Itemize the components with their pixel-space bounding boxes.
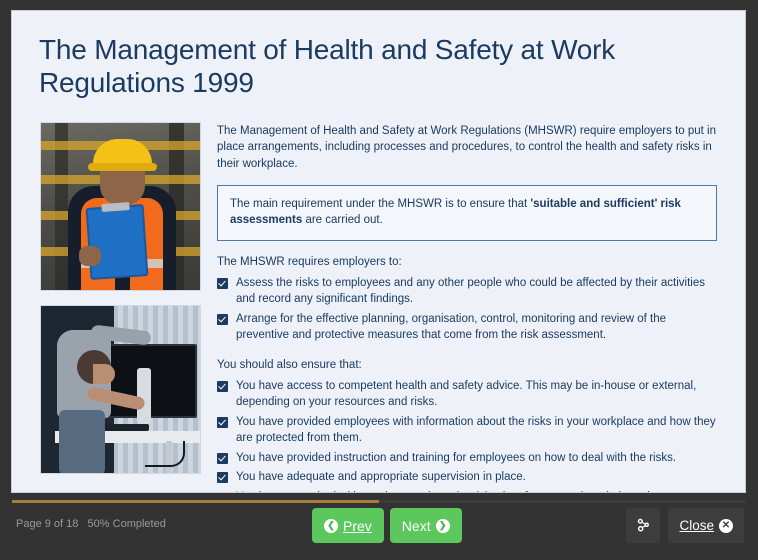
key-requirement-callout: The main requirement under the MHSWR is …	[217, 185, 717, 241]
list-item: You have access to competent health and …	[217, 379, 717, 411]
section2-lead: You should also ensure that:	[217, 359, 717, 371]
page-status-text: Page 9 of 18 50% Completed	[16, 518, 166, 530]
list-item: You have adequate and appropriate superv…	[217, 470, 717, 486]
checkbox-checked-icon	[217, 453, 228, 464]
list-item: Arrange for the effective planning, orga…	[217, 312, 717, 344]
list-item: Assess the risks to employees and any ot…	[217, 276, 717, 308]
section2-check-list: You have access to competent health and …	[217, 379, 717, 493]
close-x-circle-icon: ✕	[719, 519, 733, 533]
next-button[interactable]: Next ❯	[390, 508, 462, 543]
gear-settings-icon	[635, 517, 652, 534]
media-column	[40, 122, 201, 474]
callout-text-before: The main requirement under the MHSWR is …	[230, 198, 530, 210]
checkbox-checked-icon	[217, 314, 228, 325]
arrow-left-circle-icon: ❮	[324, 519, 338, 533]
list-item-label: You have adequate and appropriate superv…	[236, 471, 526, 483]
list-item-label: You have provided employees with informa…	[236, 416, 716, 444]
checkbox-checked-icon	[217, 472, 228, 483]
checkbox-checked-icon	[217, 278, 228, 289]
list-item: You have consulted with employees about …	[217, 490, 717, 493]
lesson-text-column: The Management of Health and Safety at W…	[217, 123, 717, 493]
arrow-right-circle-icon: ❯	[436, 519, 450, 533]
course-progress-bar	[12, 500, 746, 503]
checkbox-checked-icon	[217, 492, 228, 493]
settings-button[interactable]	[626, 508, 660, 543]
footer-right-button-group: Close ✕	[626, 508, 744, 543]
list-item: You have provided instruction and traini…	[217, 451, 717, 467]
list-item-label: You have provided instruction and traini…	[236, 452, 676, 464]
list-item-label: You have access to competent health and …	[236, 380, 696, 408]
course-progress-fill	[12, 500, 379, 503]
navigation-button-group: ❮ Prev Next ❯	[312, 508, 462, 543]
next-button-label: Next	[402, 518, 431, 534]
callout-text-after: are carried out.	[302, 214, 383, 226]
worker-hard-hat-clipboard-photo	[40, 122, 201, 291]
close-button[interactable]: Close ✕	[668, 508, 744, 543]
page-title: The Management of Health and Safety at W…	[39, 33, 689, 99]
prev-button-label: Prev	[343, 518, 372, 534]
list-item-label: You have consulted with employees about …	[236, 491, 699, 493]
section1-lead: The MHSWR requires employers to:	[217, 256, 717, 268]
slide-content-panel: The Management of Health and Safety at W…	[11, 10, 746, 493]
close-button-label: Close	[679, 518, 714, 533]
intro-paragraph: The Management of Health and Safety at W…	[217, 123, 717, 172]
list-item: You have provided employees with informa…	[217, 415, 717, 447]
worker-adjusting-monitor-photo	[40, 305, 201, 474]
checkbox-checked-icon	[217, 381, 228, 392]
list-item-label: Arrange for the effective planning, orga…	[236, 313, 666, 341]
section1-check-list: Assess the risks to employees and any ot…	[217, 276, 717, 344]
checkbox-checked-icon	[217, 417, 228, 428]
prev-button[interactable]: ❮ Prev	[312, 508, 384, 543]
list-item-label: Assess the risks to employees and any ot…	[236, 277, 705, 305]
